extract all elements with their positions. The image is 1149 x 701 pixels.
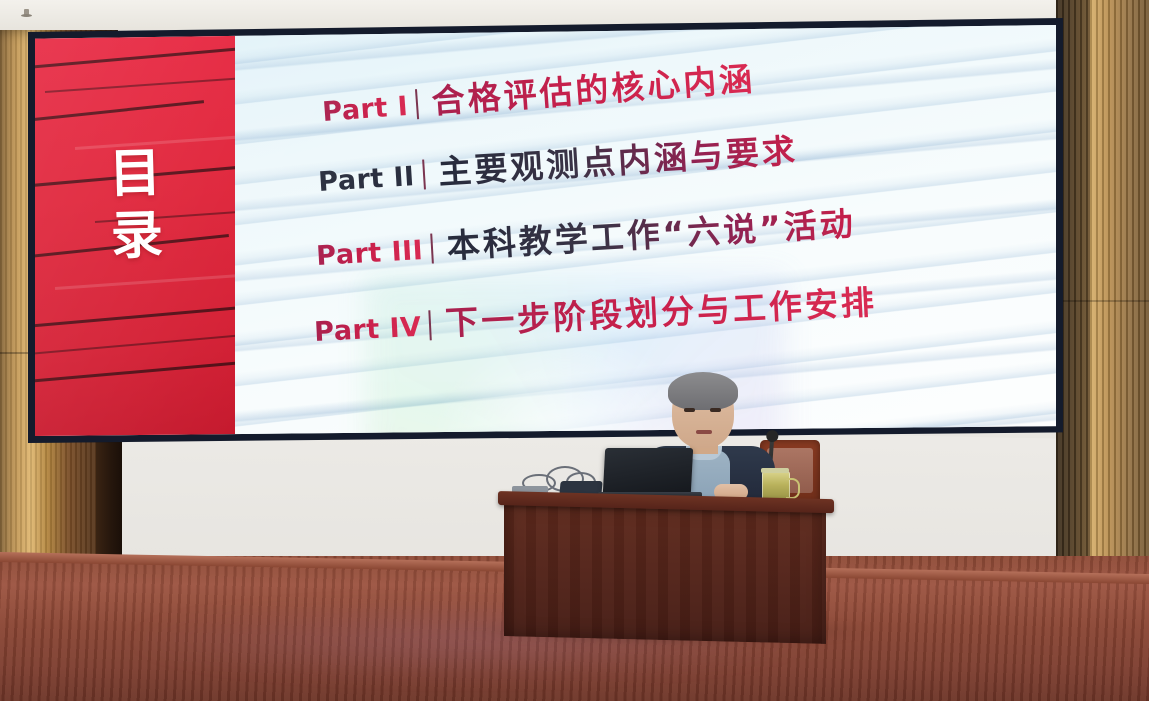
part-label-2: Part II xyxy=(317,161,415,198)
slide-toc-list: Part I 合格评估的核心内涵 Part II 主要观测点内涵与要求 Part… xyxy=(250,59,1050,399)
toc-text-3: 本科教学工作“六说”活动 xyxy=(446,197,857,268)
toc-item-4: Part IV 下一步阶段划分与工作安排 xyxy=(313,276,878,351)
toc-text-2: 主要观测点内涵与要求 xyxy=(437,124,799,194)
speaker-hair xyxy=(668,372,738,410)
toc-char-2: 录 xyxy=(87,204,189,269)
toc-item-3: Part III 本科教学工作“六说”活动 xyxy=(315,197,857,275)
lecture-hall-photo: 目 录 Part I 合格评估的核心内涵 Part II 主要观测点内涵与要求 xyxy=(0,0,1149,701)
part-label-3: Part III xyxy=(315,235,424,272)
toc-item-1: Part I 合格评估的核心内涵 xyxy=(320,52,756,131)
part-divider-4 xyxy=(429,310,432,340)
projection-screen: 目 录 Part I 合格评估的核心内涵 Part II 主要观测点内涵与要求 xyxy=(28,18,1063,443)
part-label-1: Part I xyxy=(321,91,409,128)
toc-char-1: 目 xyxy=(85,142,187,207)
slide-red-sidebar: 目 录 xyxy=(35,25,235,436)
part-divider-3 xyxy=(430,233,434,263)
speaker-eye-right xyxy=(710,408,721,412)
podium-body xyxy=(504,503,826,644)
laptop-icon xyxy=(603,448,693,494)
podium xyxy=(498,491,834,637)
slide-sidebar-title: 目 录 xyxy=(85,142,188,269)
toc-item-2: Part II 主要观测点内涵与要求 xyxy=(317,124,800,201)
part-divider-1 xyxy=(415,89,419,119)
tea-cup-lid xyxy=(761,468,789,473)
speaker-eye-left xyxy=(684,408,695,412)
speaker-mouth xyxy=(696,430,712,434)
slide-surface: 目 录 Part I 合格评估的核心内涵 Part II 主要观测点内涵与要求 xyxy=(35,25,1056,436)
toc-text-1: 合格评估的核心内涵 xyxy=(430,52,757,123)
part-label-4: Part IV xyxy=(314,312,423,348)
right-panel-seam xyxy=(1056,300,1149,302)
toc-text-4: 下一步阶段划分与工作安排 xyxy=(444,276,878,345)
part-divider-2 xyxy=(422,160,426,190)
